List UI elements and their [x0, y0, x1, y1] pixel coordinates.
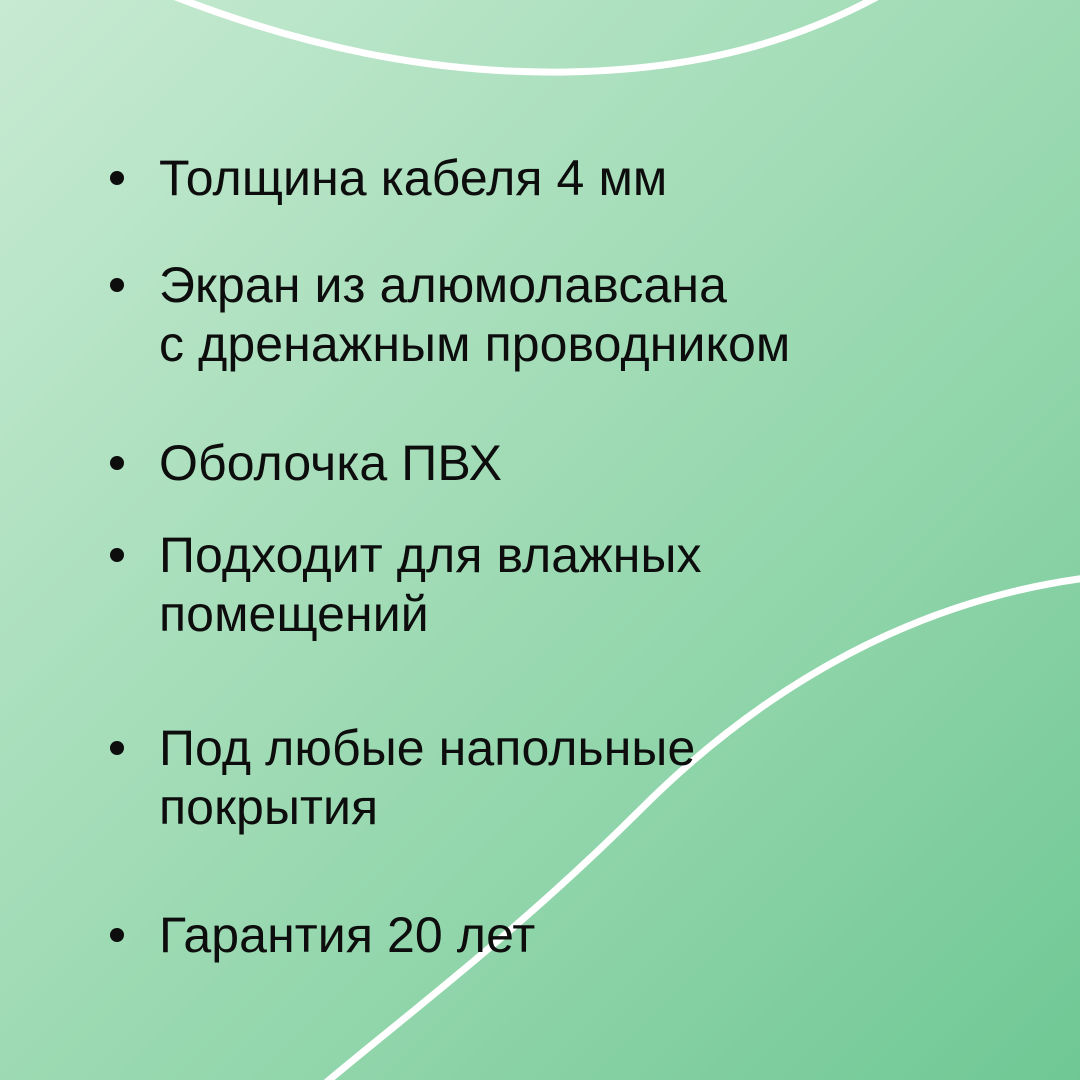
bullet-dot-icon — [110, 456, 124, 470]
bullet-dot-icon — [110, 548, 124, 562]
bullet-dot-icon — [110, 171, 124, 185]
list-item: Гарантия 20 лет — [110, 906, 535, 965]
list-item: Экран из алюмолавсана с дренажным провод… — [110, 256, 790, 374]
list-item: Оболочка ПВХ — [110, 434, 502, 493]
list-item: Под любые напольные покрытия — [110, 719, 695, 837]
feature-list-card: Толщина кабеля 4 мм Экран из алюмолавсан… — [0, 0, 1080, 1080]
list-item: Подходит для влажных помещений — [110, 526, 702, 644]
feature-text-pvc-sheath: Оболочка ПВХ — [159, 434, 502, 493]
feature-text-warranty: Гарантия 20 лет — [159, 906, 535, 965]
feature-text-wet-rooms: Подходит для влажных помещений — [159, 526, 702, 644]
list-item: Толщина кабеля 4 мм — [110, 149, 667, 208]
bullet-dot-icon — [110, 741, 124, 755]
bullet-dot-icon — [110, 928, 124, 942]
bullet-dot-icon — [110, 278, 124, 292]
feature-bullet-list: Толщина кабеля 4 мм Экран из алюмолавсан… — [0, 0, 1080, 1080]
feature-text-shield-alumolavsan: Экран из алюмолавсана с дренажным провод… — [159, 256, 790, 374]
feature-text-floor-coverings: Под любые напольные покрытия — [159, 719, 695, 837]
feature-text-cable-thickness: Толщина кабеля 4 мм — [159, 149, 667, 208]
